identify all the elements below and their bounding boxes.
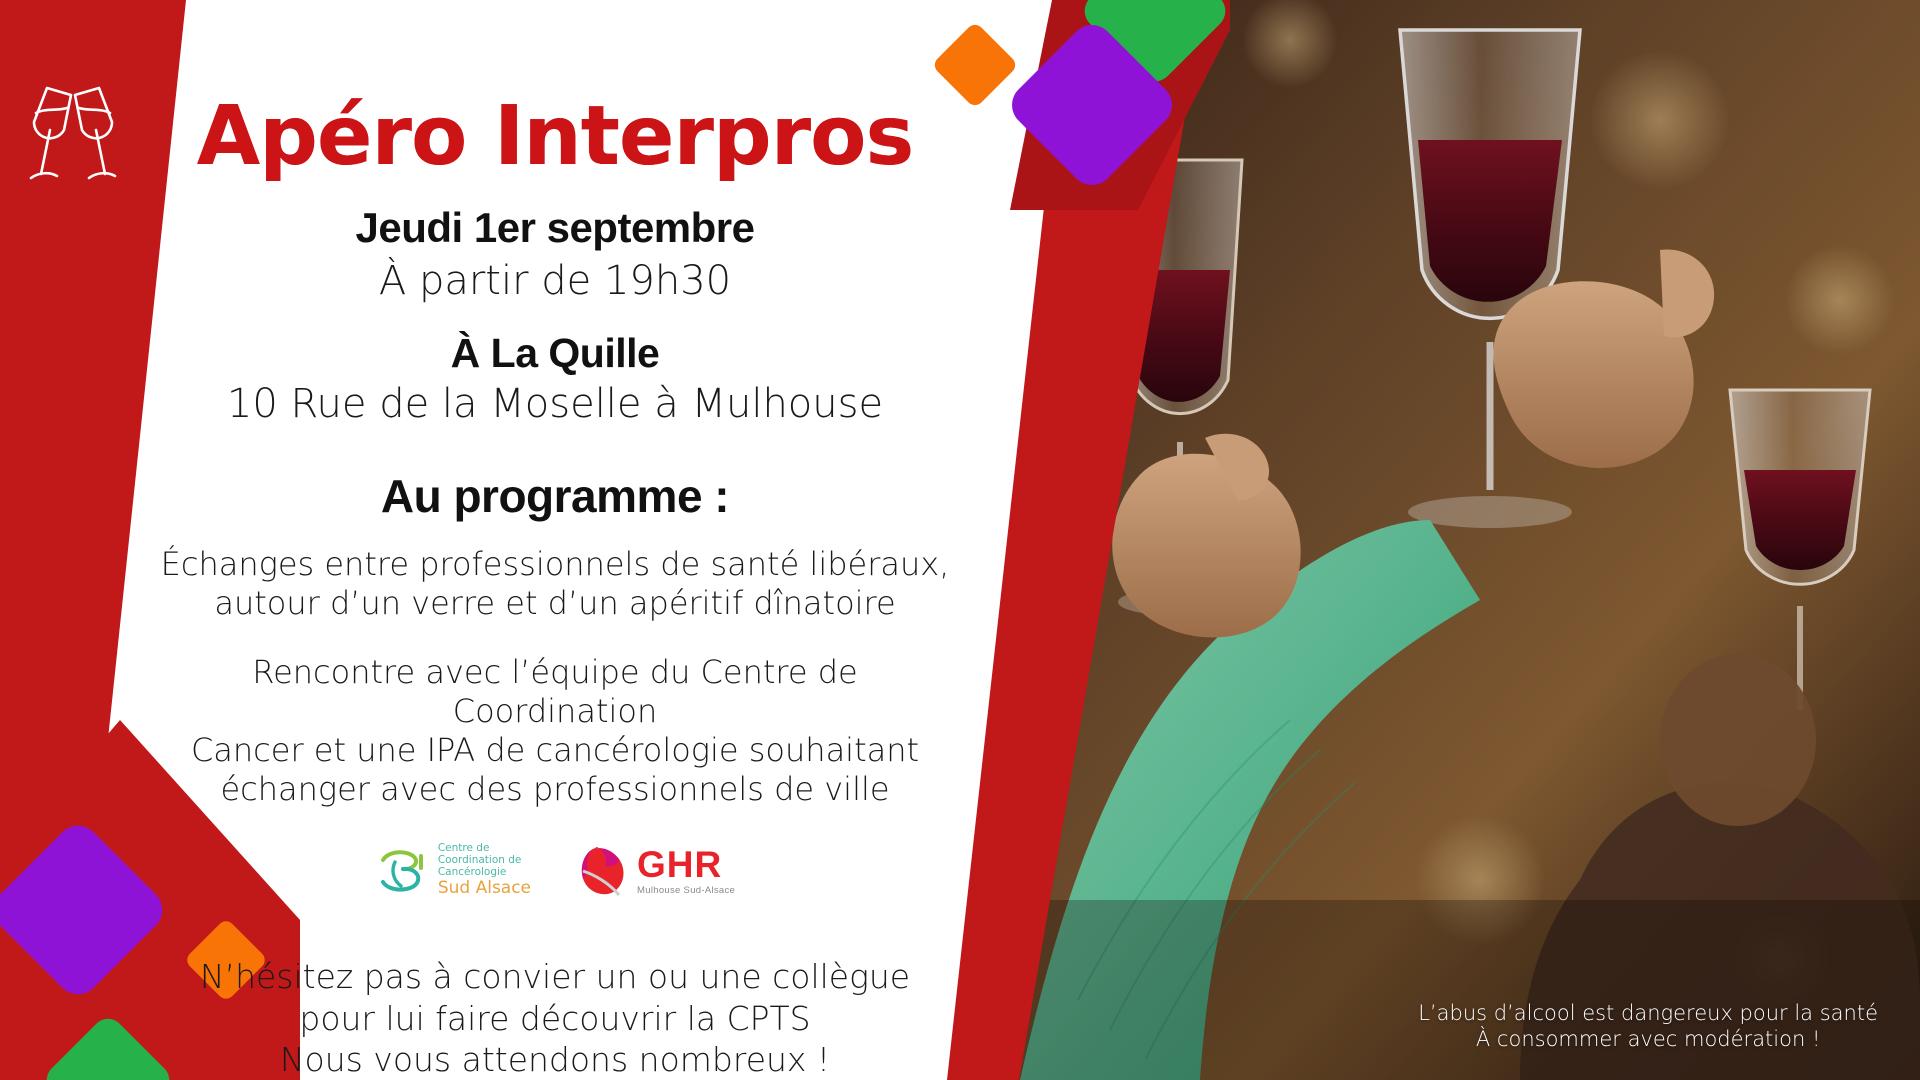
programme-item-2-line-2: Cancer et une IPA de cancérologie souhai… (150, 731, 960, 770)
event-time: À partir de 19h30 (150, 258, 960, 304)
poster-content: Apéro Interpros Jeudi 1er septembre À pa… (150, 0, 960, 1080)
programme-heading: Au programme : (150, 469, 960, 523)
cta-line-2: pour lui faire découvrir la CPTS (150, 998, 960, 1039)
logo-ghr-name: GHR (637, 846, 735, 883)
programme-item-1: Échanges entre professionnels de santé l… (150, 545, 960, 623)
venue-address: 10 Rue de la Moselle à Mulhouse (150, 381, 960, 427)
venue-name: À La Quille (150, 330, 960, 377)
logo-ghr-text: GHR Mulhouse Sud-Alsace (637, 846, 735, 896)
partner-logos: Centre de Coordination de Cancérologie S… (150, 843, 960, 898)
3c-mark-icon (375, 848, 431, 894)
ghr-emblem-icon (577, 845, 629, 897)
cta-line-3: Nous vous attendons nombreux ! (150, 1039, 960, 1080)
poster-canvas: Apéro Interpros Jeudi 1er septembre À pa… (0, 0, 1920, 1080)
event-date: Jeudi 1er septembre (150, 204, 960, 252)
programme-item-1-line-1: Échanges entre professionnels de santé l… (150, 545, 960, 584)
alcohol-warning: L’abus d’alcool est dangereux pour la sa… (1418, 1000, 1878, 1053)
logo-ccc-text: Centre de Coordination de Cancérologie S… (438, 843, 531, 898)
poster-title-wrap: Apéro Interpros (150, 0, 960, 178)
logo-ccc-line-3: Cancérologie (438, 867, 531, 879)
cta-line-1: N’hésitez pas à convier un ou une collèg… (150, 956, 960, 997)
logo-ccc-line-4: Sud Alsace (438, 879, 531, 898)
alcohol-warning-line-1: L’abus d’alcool est dangereux pour la sa… (1418, 1000, 1878, 1026)
logo-ghr-subtitle: Mulhouse Sud-Alsace (637, 886, 735, 896)
programme-item-2-line-1: Rencontre avec l’équipe du Centre de Coo… (150, 653, 960, 731)
clinking-wine-glasses-icon (14, 62, 132, 190)
alcohol-warning-line-2: À consommer avec modération ! (1418, 1026, 1878, 1052)
call-to-action: N’hésitez pas à convier un ou une collèg… (150, 956, 960, 1080)
logo-ghr: GHR Mulhouse Sud-Alsace (577, 845, 735, 897)
programme-item-2-line-3: échanger avec des professionnels de vill… (150, 770, 960, 809)
programme-item-2: Rencontre avec l’équipe du Centre de Coo… (150, 653, 960, 809)
logo-centre-coordination-cancerologie: Centre de Coordination de Cancérologie S… (375, 843, 531, 898)
programme-item-1-line-2: autour d’un verre et d’un apéritif dînat… (150, 584, 960, 623)
logo-ccc-line-2: Coordination de (438, 855, 531, 867)
page-title: Apéro Interpros (197, 96, 914, 178)
